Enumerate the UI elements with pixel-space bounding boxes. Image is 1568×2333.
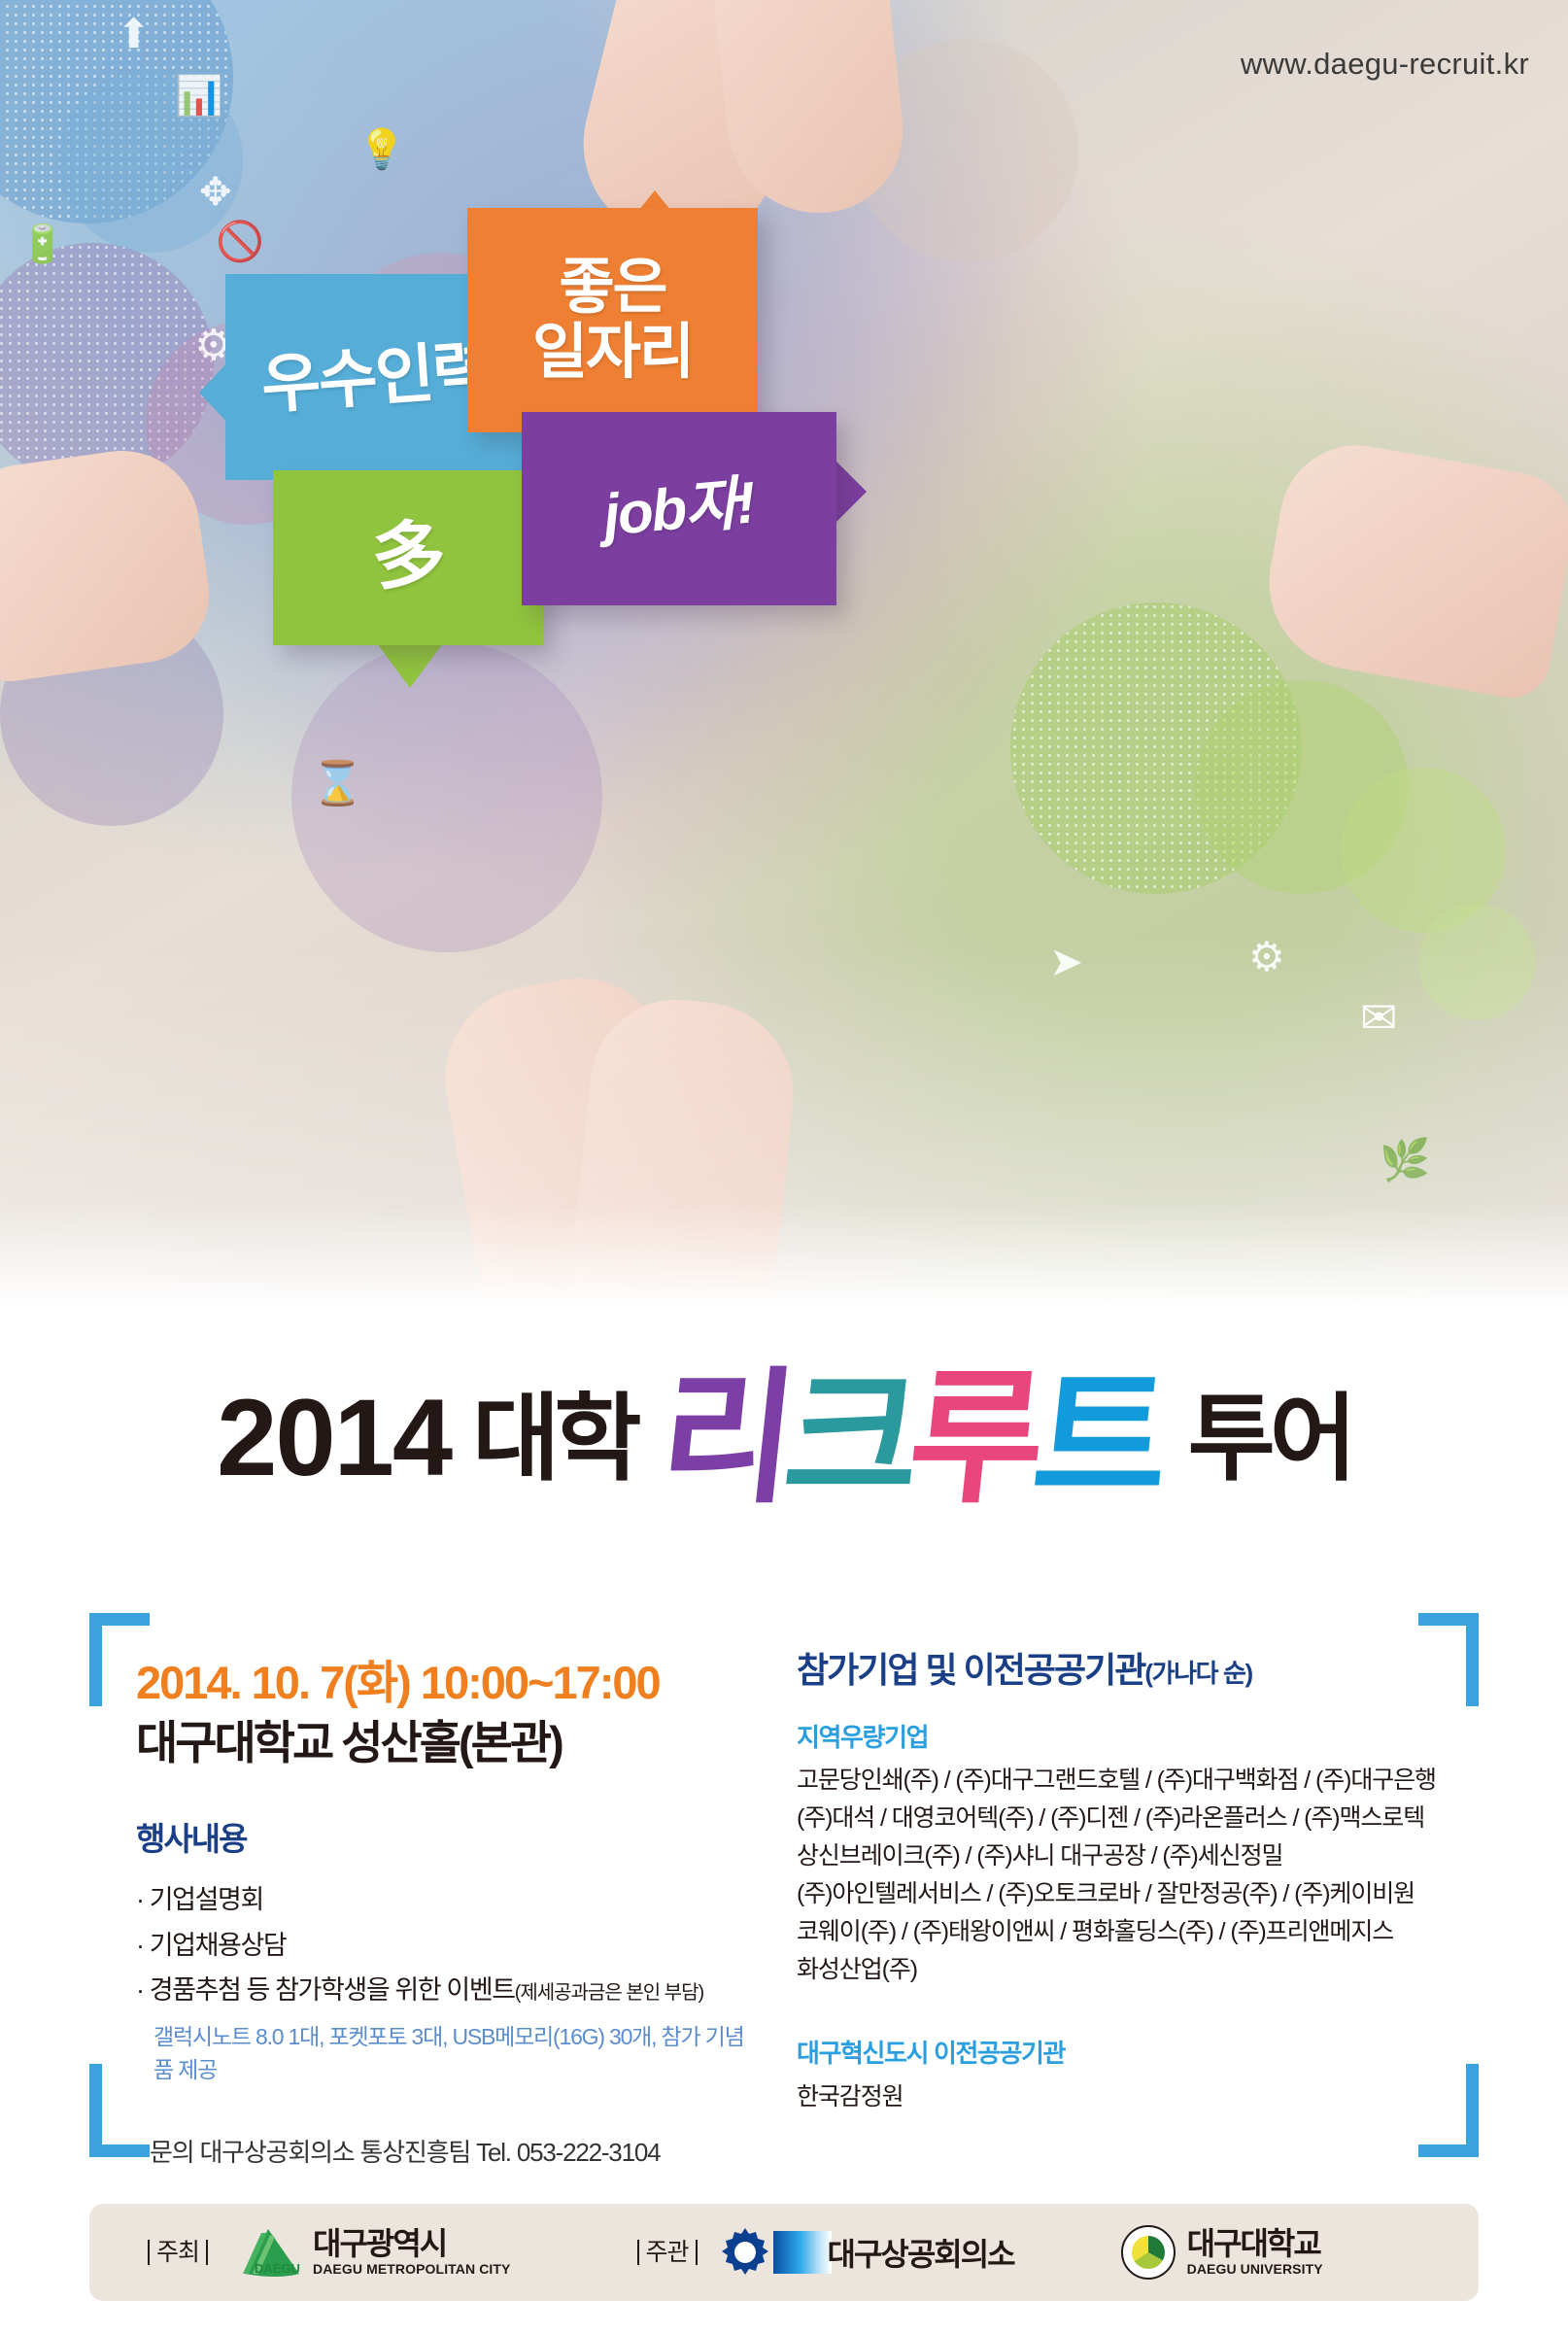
university-group: 대구대학교 DAEGU UNIVERSITY (1121, 2225, 1323, 2280)
daegu-city-text: 대구광역시 DAEGU METROPOLITAN CITY (313, 2228, 510, 2277)
hourglass-icon: ⌛ (311, 758, 364, 808)
bubble-purple-text: job자! (601, 473, 757, 544)
title-year: 2014 (217, 1384, 451, 1492)
bubble-green-text: 多 (372, 521, 444, 595)
company-line: (주)아인텔레서비스 / (주)오토크로바 / 잘만정공(주) / (주)케이비… (797, 1875, 1440, 1913)
title-recruit-char-2: 루 (902, 1356, 1043, 1520)
hand-right (1255, 433, 1568, 704)
university-text: 대구대학교 DAEGU UNIVERSITY (1187, 2228, 1323, 2277)
participants-heading-suffix: (가나다 순) (1144, 1659, 1251, 1688)
bubble-blue-text: 우수인력 (259, 337, 492, 417)
lightbulb-icon: 💡 (358, 126, 406, 172)
no-entry-icon: 🚫 (216, 219, 264, 264)
public-institutions-list: 한국감정원 (797, 2077, 1440, 2112)
sponsor-footer: 주최 DAEGU 대구광역시 DAEGU METROPOLITAN CITY 주 (89, 2204, 1479, 2301)
arrow-up-icon: ⬆ (117, 10, 151, 57)
play-arrow-icon: ➤ (1049, 938, 1083, 985)
company-line: 화성산업(주) (797, 1951, 1440, 1989)
bubble-tail-green (377, 643, 443, 688)
bokeh-circle (1418, 904, 1535, 1020)
university-name-ko: 대구대학교 (1187, 2228, 1323, 2261)
bubble-purple: job자! (522, 412, 836, 605)
program-heading: 행사내용 (136, 1813, 760, 1860)
dcci-logo: 대구상공회의소 (719, 2226, 1014, 2279)
local-companies-list: 고문당인쇄(주) / (주)대구그랜드호텔 / (주)대구백화점 / (주)대구… (797, 1762, 1440, 1989)
main-title: 2014 대학 리크루트 투어 (0, 1341, 1568, 1535)
event-venue: 대구대학교 성산홀(본관) (136, 1716, 760, 1770)
host-name-ko: 대구광역시 (313, 2228, 510, 2261)
participants-heading-main: 참가기업 및 이전공공기관 (797, 1650, 1144, 1690)
daegu-city-logo: DAEGU 대구광역시 DAEGU METROPOLITAN CITY (229, 2227, 510, 2278)
program-item-text: · 기업채용상담 (136, 1931, 286, 1960)
gradient-bar (773, 2231, 832, 2274)
program-list: · 기업설명회· 기업채용상담· 경품추첨 등 참가학생을 위한 이벤트(제세공… (136, 1877, 760, 2012)
host-name-en: DAEGU METROPOLITAN CITY (313, 2261, 510, 2277)
mountain-icon: DAEGU (229, 2227, 301, 2278)
title-univ: 대학 (472, 1390, 635, 1486)
company-line: (주)대석 / 대영코어텍(주) / (주)디젠 / (주)라온플러스 / (주… (797, 1800, 1440, 1837)
title-recruit-char-3: 트 (1026, 1356, 1168, 1520)
gift-list: 갤럭시노트 8.0 1대, 포켓포토 3대, USB메모리(16G) 30개, … (136, 2018, 760, 2084)
gear-icon: ⚙ (1248, 933, 1285, 980)
svg-text:DAEGU: DAEGU (255, 2261, 300, 2276)
university-name-en: DAEGU UNIVERSITY (1187, 2261, 1323, 2277)
title-tour: 투어 (1188, 1390, 1351, 1486)
bubble-green: 多 (273, 470, 543, 645)
company-line: 코웨이(주) / (주)태왕이앤씨 / 평화홀딩스(주) / (주)프리앤메지스 (797, 1913, 1440, 1951)
bubble-orange-text: 좋은 일자리 (532, 256, 693, 386)
bar-chart-icon: 📊 (175, 73, 223, 119)
hero-section: ⬆ 📊 💡 ✥ 🔋 🚫 ⚙ ⚙ 🔑 ⌵ ⌛ ➤ ⚙ ✉ 🌿 www.daegu-… (0, 0, 1568, 1307)
website-url[interactable]: www.daegu-recruit.kr (1241, 47, 1529, 82)
title-recruit-char-0: 리 (653, 1356, 795, 1520)
program-item-note: (제세공과금은 본인 부담) (515, 1982, 703, 2004)
title-recruit: 리크루트 (654, 1365, 1167, 1511)
mail-icon: ✉ (1360, 991, 1398, 1044)
organizer-group: 주관 대구상공회의소 (637, 2226, 1014, 2279)
event-date: 2014. 10. 7(화) 10:00~17:00 (136, 1658, 760, 1708)
program-item: · 기업채용상담 (136, 1923, 760, 1968)
program-item: · 경품추첨 등 참가학생을 위한 이벤트(제세공과금은 본인 부담) (136, 1968, 760, 2012)
gear-icon (719, 2226, 771, 2279)
bubble-orange: 좋은 일자리 (467, 208, 758, 432)
bubble-tail-purple (834, 459, 867, 525)
move-arrows-icon: ✥ (199, 170, 232, 215)
contact-info: 문의 대구상공회의소 통상진흥팀 Tel. 053-222-3104 (136, 2133, 760, 2169)
poster-root: ⬆ 📊 💡 ✥ 🔋 🚫 ⚙ ⚙ 🔑 ⌵ ⌛ ➤ ⚙ ✉ 🌿 www.daegu-… (0, 0, 1568, 2333)
company-line: 상신브레이크(주) / (주)샤니 대구공장 / (주)세신정밀 (797, 1837, 1440, 1875)
program-item-text: · 기업설명회 (136, 1885, 263, 1914)
title-recruit-char-1: 크 (777, 1356, 919, 1520)
program-item-text: · 경품추첨 등 참가학생을 위한 이벤트 (136, 1975, 515, 2005)
host-label: 주최 (148, 2240, 208, 2265)
university-seal-icon (1121, 2225, 1176, 2280)
info-panel: 2014. 10. 7(화) 10:00~17:00 대구대학교 성산홀(본관)… (89, 1613, 1479, 2157)
participants-column: 참가기업 및 이전공공기관(가나다 순) 지역우량기업 고문당인쇄(주) / (… (760, 1613, 1479, 2157)
event-details-column: 2014. 10. 7(화) 10:00~17:00 대구대학교 성산홀(본관)… (89, 1613, 760, 2157)
host-group: 주최 DAEGU 대구광역시 DAEGU METROPOLITAN CITY (148, 2227, 511, 2278)
participants-heading: 참가기업 및 이전공공기관(가나다 순) (797, 1642, 1440, 1693)
battery-icon: 🔋 (19, 223, 65, 266)
leaf-icon: 🌿 (1380, 1137, 1430, 1184)
public-institutions-label: 대구혁신도시 이전공공기관 (797, 2034, 1440, 2070)
company-line: 고문당인쇄(주) / (주)대구그랜드호텔 / (주)대구백화점 / (주)대구… (797, 1762, 1440, 1800)
local-companies-label: 지역우량기업 (797, 1718, 1440, 1754)
program-item: · 기업설명회 (136, 1877, 760, 1922)
organizer-name-ko: 대구상공회의소 (828, 2230, 1014, 2275)
organizer-label: 주관 (637, 2240, 698, 2265)
